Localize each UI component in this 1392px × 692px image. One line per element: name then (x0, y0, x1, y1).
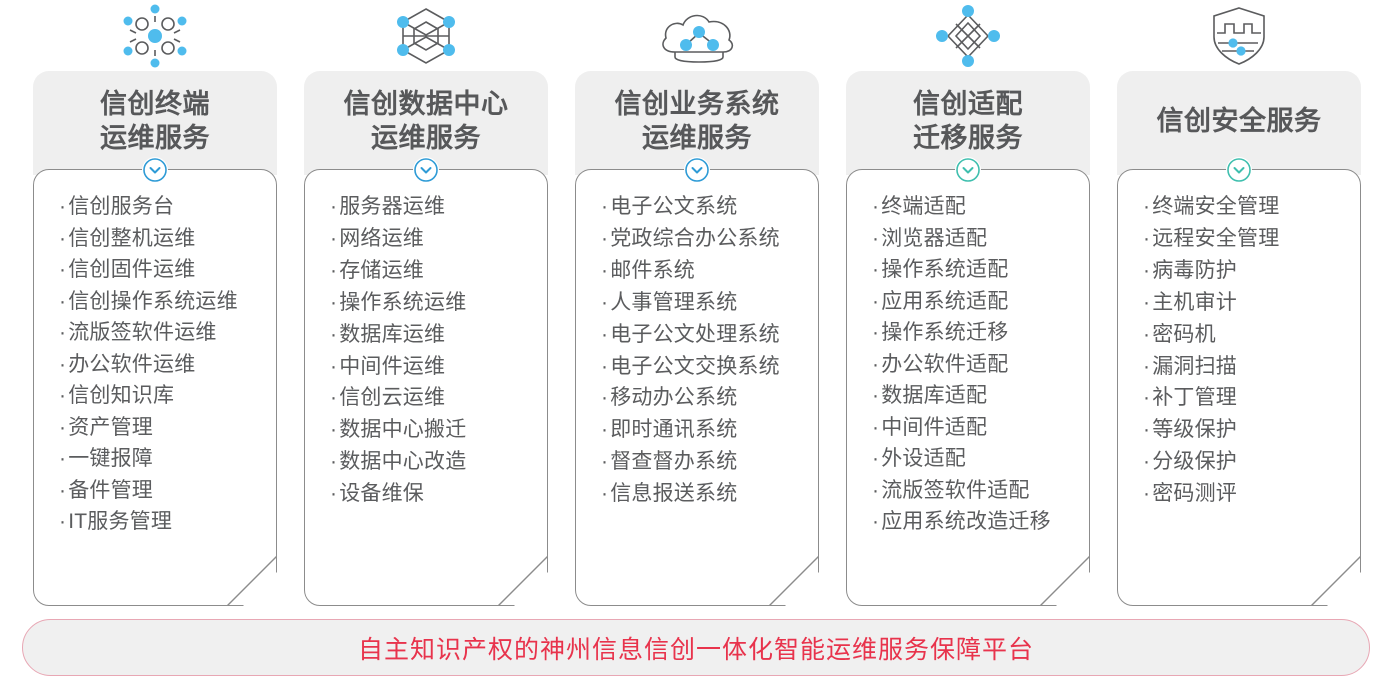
list-item-label: 终端适配 (881, 195, 966, 218)
list-item-label: 外设适配 (881, 447, 966, 470)
column-title: 信创安全服务 (1157, 104, 1322, 142)
bullet-icon: · (59, 321, 66, 344)
list-item[interactable]: ·存储运维 (304, 255, 548, 287)
list-item-label: 主机审计 (1152, 291, 1237, 314)
list-item[interactable]: ·邮件系统 (575, 255, 819, 287)
list-item[interactable]: ·移动办公系统 (575, 382, 819, 414)
expand-chevron-badge[interactable] (955, 157, 981, 183)
list-item[interactable]: ·补丁管理 (1117, 382, 1361, 414)
list-item-label: 远程安全管理 (1152, 227, 1279, 250)
bullet-icon: · (601, 227, 608, 250)
bullet-icon: · (59, 353, 66, 376)
bullet-icon: · (330, 355, 337, 378)
list-item[interactable]: ·电子公文处理系统 (575, 319, 819, 351)
list-item-label: 设备维保 (339, 482, 424, 505)
list-item[interactable]: ·电子公文交换系统 (575, 351, 819, 383)
bullet-icon: · (330, 323, 337, 346)
service-list: ·服务器运维·网络运维·存储运维·操作系统运维·数据库运维·中间件运维·信创云运… (304, 169, 548, 510)
list-item[interactable]: ·办公软件适配 (846, 349, 1090, 381)
card-bevel-corner (769, 556, 819, 606)
bullet-icon: · (872, 290, 879, 313)
list-item[interactable]: ·网络运维 (304, 223, 548, 255)
list-item-label: 信创服务台 (68, 195, 174, 218)
list-item[interactable]: ·一键报障 (33, 443, 277, 475)
service-column: 信创数据中心 运维服务 ·服务器运维·网络运维·存储运维·操作系统运维·数据库运… (304, 0, 548, 606)
list-item-label: 电子公文系统 (610, 195, 737, 218)
bullet-icon: · (1143, 386, 1150, 409)
bullet-icon: · (1143, 418, 1150, 441)
expand-chevron-badge[interactable] (1226, 157, 1252, 183)
list-item-label: 即时通讯系统 (610, 418, 737, 441)
list-item-label: 党政综合办公系统 (610, 227, 780, 250)
bullet-icon: · (59, 510, 66, 533)
list-item[interactable]: ·密码机 (1117, 319, 1361, 351)
service-list: ·信创服务台·信创整机运维·信创固件运维·信创操作系统运维·流版签软件运维·办公… (33, 169, 277, 538)
list-item[interactable]: ·信创固件运维 (33, 254, 277, 286)
bullet-icon: · (601, 291, 608, 314)
list-item[interactable]: ·应用系统改造迁移 (846, 506, 1090, 538)
bullet-icon: · (1143, 450, 1150, 473)
bullet-icon: · (601, 259, 608, 282)
list-item-label: 网络运维 (339, 227, 424, 250)
bullet-icon: · (330, 259, 337, 282)
column-title: 信创适配 迁移服务 (913, 87, 1023, 159)
list-item[interactable]: ·信创整机运维 (33, 223, 277, 255)
list-item-label: 邮件系统 (610, 259, 695, 282)
bullet-icon: · (872, 447, 879, 470)
list-item[interactable]: ·办公软件运维 (33, 349, 277, 381)
list-item-label: 操作系统迁移 (881, 321, 1008, 344)
list-item-label: 应用系统改造迁移 (881, 510, 1051, 533)
bullet-icon: · (872, 479, 879, 502)
list-item[interactable]: ·外设适配 (846, 443, 1090, 475)
list-item[interactable]: ·数据中心搬迁 (304, 414, 548, 446)
list-item[interactable]: ·病毒防护 (1117, 255, 1361, 287)
list-item-label: 督查督办系统 (610, 450, 737, 473)
list-item[interactable]: ·信创操作系统运维 (33, 286, 277, 318)
list-item[interactable]: ·中间件运维 (304, 351, 548, 383)
platform-banner-text: 自主知识产权的神州信息信创一体化智能运维服务保障平台 (358, 630, 1034, 666)
column-title: 信创数据中心 运维服务 (344, 87, 509, 159)
list-item-label: 终端安全管理 (1152, 195, 1279, 218)
list-item-label: 存储运维 (339, 259, 424, 282)
bullet-icon: · (601, 482, 608, 505)
list-item[interactable]: ·电子公文系统 (575, 191, 819, 223)
bullet-icon: · (872, 510, 879, 533)
list-item[interactable]: ·远程安全管理 (1117, 223, 1361, 255)
list-item[interactable]: ·终端适配 (846, 191, 1090, 223)
cloud-network-icon (575, 2, 819, 70)
list-item[interactable]: ·操作系统适配 (846, 254, 1090, 286)
bullet-icon: · (1143, 259, 1150, 282)
list-item[interactable]: ·资产管理 (33, 412, 277, 444)
list-item-label: 中间件适配 (881, 416, 987, 439)
list-item-label: 密码测评 (1152, 482, 1237, 505)
bullet-icon: · (330, 227, 337, 250)
list-item[interactable]: ·数据库运维 (304, 319, 548, 351)
bullet-icon: · (330, 482, 337, 505)
service-column: 信创安全服务 ·终端安全管理·远程安全管理·病毒防护·主机审计·密码机·漏洞扫描… (1117, 0, 1361, 606)
list-item[interactable]: ·分级保护 (1117, 446, 1361, 478)
list-item[interactable]: ·主机审计 (1117, 287, 1361, 319)
list-item[interactable]: ·IT服务管理 (33, 506, 277, 538)
list-item[interactable]: ·服务器运维 (304, 191, 548, 223)
bullet-icon: · (601, 195, 608, 218)
bullet-icon: · (872, 227, 879, 250)
list-item[interactable]: ·终端安全管理 (1117, 191, 1361, 223)
list-item-label: 信创操作系统运维 (68, 290, 238, 313)
card-bevel-corner (227, 556, 277, 606)
service-capability-diagram: 信创终端 运维服务 ·信创服务台·信创整机运维·信创固件运维·信创操作系统运维·… (0, 0, 1392, 692)
list-item-label: 流版签软件运维 (68, 321, 216, 344)
list-item-label: 分级保护 (1152, 450, 1237, 473)
list-item[interactable]: ·备件管理 (33, 475, 277, 507)
bullet-icon: · (1143, 195, 1150, 218)
bullet-icon: · (330, 450, 337, 473)
bullet-icon: · (59, 290, 66, 313)
list-item-label: 漏洞扫描 (1152, 355, 1237, 378)
bullet-icon: · (1143, 355, 1150, 378)
bullet-icon: · (872, 195, 879, 218)
list-item-label: 一键报障 (68, 447, 153, 470)
service-columns: 信创终端 运维服务 ·信创服务台·信创整机运维·信创固件运维·信创操作系统运维·… (0, 0, 1392, 606)
list-item-label: 操作系统运维 (339, 291, 466, 314)
bullet-icon: · (1143, 482, 1150, 505)
list-item[interactable]: ·应用系统适配 (846, 286, 1090, 318)
list-item[interactable]: ·数据中心改造 (304, 446, 548, 478)
bullet-icon: · (59, 384, 66, 407)
list-item-label: 资产管理 (68, 416, 153, 439)
list-item[interactable]: ·党政综合办公系统 (575, 223, 819, 255)
bullet-icon: · (1143, 323, 1150, 346)
list-item-label: 操作系统适配 (881, 258, 1008, 281)
service-list: ·终端适配·浏览器适配·操作系统适配·应用系统适配·操作系统迁移·办公软件适配·… (846, 169, 1090, 538)
list-item[interactable]: ·数据库适配 (846, 380, 1090, 412)
list-item-label: 办公软件运维 (68, 353, 195, 376)
bullet-icon: · (601, 355, 608, 378)
list-item-label: 等级保护 (1152, 418, 1237, 441)
bullet-icon: · (330, 195, 337, 218)
list-item-label: 数据中心改造 (339, 450, 466, 473)
list-item[interactable]: ·即时通讯系统 (575, 414, 819, 446)
list-item-label: 信创知识库 (68, 384, 174, 407)
card-bevel-corner (498, 556, 548, 606)
list-item[interactable]: ·信创云运维 (304, 382, 548, 414)
bullet-icon: · (59, 258, 66, 281)
list-item[interactable]: ·密码测评 (1117, 478, 1361, 510)
list-item-label: 中间件运维 (339, 355, 445, 378)
list-item[interactable]: ·流版签软件运维 (33, 317, 277, 349)
bullet-icon: · (872, 416, 879, 439)
list-item-label: 流版签软件适配 (881, 479, 1029, 502)
service-column: 信创业务系统 运维服务 ·电子公文系统·党政综合办公系统·邮件系统·人事管理系统… (575, 0, 819, 606)
list-item-label: 数据库运维 (339, 323, 445, 346)
bullet-icon: · (59, 227, 66, 250)
list-item-label: 电子公文处理系统 (610, 323, 780, 346)
diamond-migrate-icon (846, 2, 1090, 70)
bullet-icon: · (59, 416, 66, 439)
service-list: ·电子公文系统·党政综合办公系统·邮件系统·人事管理系统·电子公文处理系统·电子… (575, 169, 819, 510)
list-item[interactable]: ·信创服务台 (33, 191, 277, 223)
list-item-label: 信创云运维 (339, 386, 445, 409)
expand-chevron-badge[interactable] (684, 157, 710, 183)
service-column: 信创适配 迁移服务 ·终端适配·浏览器适配·操作系统适配·应用系统适配·操作系统… (846, 0, 1090, 606)
bullet-icon: · (330, 291, 337, 314)
service-list: ·终端安全管理·远程安全管理·病毒防护·主机审计·密码机·漏洞扫描·补丁管理·等… (1117, 169, 1361, 510)
bullet-icon: · (601, 450, 608, 473)
bullet-icon: · (1143, 291, 1150, 314)
bullet-icon: · (330, 418, 337, 441)
list-item[interactable]: ·浏览器适配 (846, 223, 1090, 255)
card-bevel-corner (1311, 556, 1361, 606)
bullet-icon: · (601, 323, 608, 346)
bullet-icon: · (330, 386, 337, 409)
bullet-icon: · (1143, 227, 1150, 250)
card-bevel-corner (1040, 556, 1090, 606)
network-nodes-icon (33, 2, 277, 70)
list-item-label: 移动办公系统 (610, 386, 737, 409)
list-item[interactable]: ·操作系统运维 (304, 287, 548, 319)
bullet-icon: · (601, 386, 608, 409)
list-item[interactable]: ·设备维保 (304, 478, 548, 510)
bullet-icon: · (59, 479, 66, 502)
bullet-icon: · (872, 384, 879, 407)
list-item-label: 补丁管理 (1152, 386, 1237, 409)
bullet-icon: · (59, 447, 66, 470)
list-item-label: 信息报送系统 (610, 482, 737, 505)
list-item-label: 病毒防护 (1152, 259, 1237, 282)
list-item[interactable]: ·漏洞扫描 (1117, 351, 1361, 383)
list-item-label: 数据库适配 (881, 384, 987, 407)
platform-banner: 自主知识产权的神州信息信创一体化智能运维服务保障平台 (22, 619, 1370, 676)
list-item[interactable]: ·中间件适配 (846, 412, 1090, 444)
list-item-label: 服务器运维 (339, 195, 445, 218)
list-item[interactable]: ·操作系统迁移 (846, 317, 1090, 349)
list-item-label: 应用系统适配 (881, 290, 1008, 313)
list-item[interactable]: ·信息报送系统 (575, 478, 819, 510)
list-item[interactable]: ·等级保护 (1117, 414, 1361, 446)
list-item[interactable]: ·督查督办系统 (575, 446, 819, 478)
hexagon-cube-icon (304, 2, 548, 70)
list-item-label: 备件管理 (68, 479, 153, 502)
shield-security-icon (1117, 2, 1361, 70)
list-item-label: 办公软件适配 (881, 353, 1008, 376)
bullet-icon: · (872, 321, 879, 344)
expand-chevron-badge[interactable] (413, 157, 439, 183)
list-item[interactable]: ·信创知识库 (33, 380, 277, 412)
list-item-label: IT服务管理 (68, 510, 172, 533)
service-column: 信创终端 运维服务 ·信创服务台·信创整机运维·信创固件运维·信创操作系统运维·… (33, 0, 277, 606)
list-item[interactable]: ·人事管理系统 (575, 287, 819, 319)
bullet-icon: · (872, 258, 879, 281)
list-item-label: 浏览器适配 (881, 227, 987, 250)
bullet-icon: · (601, 418, 608, 441)
list-item-label: 信创整机运维 (68, 227, 195, 250)
list-item-label: 电子公文交换系统 (610, 355, 780, 378)
list-item-label: 信创固件运维 (68, 258, 195, 281)
expand-chevron-badge[interactable] (142, 157, 168, 183)
list-item-label: 人事管理系统 (610, 291, 737, 314)
bullet-icon: · (59, 195, 66, 218)
column-title: 信创业务系统 运维服务 (615, 87, 780, 159)
list-item-label: 数据中心搬迁 (339, 418, 466, 441)
list-item-label: 密码机 (1152, 323, 1216, 346)
list-item[interactable]: ·流版签软件适配 (846, 475, 1090, 507)
column-title: 信创终端 运维服务 (100, 87, 210, 159)
bullet-icon: · (872, 353, 879, 376)
